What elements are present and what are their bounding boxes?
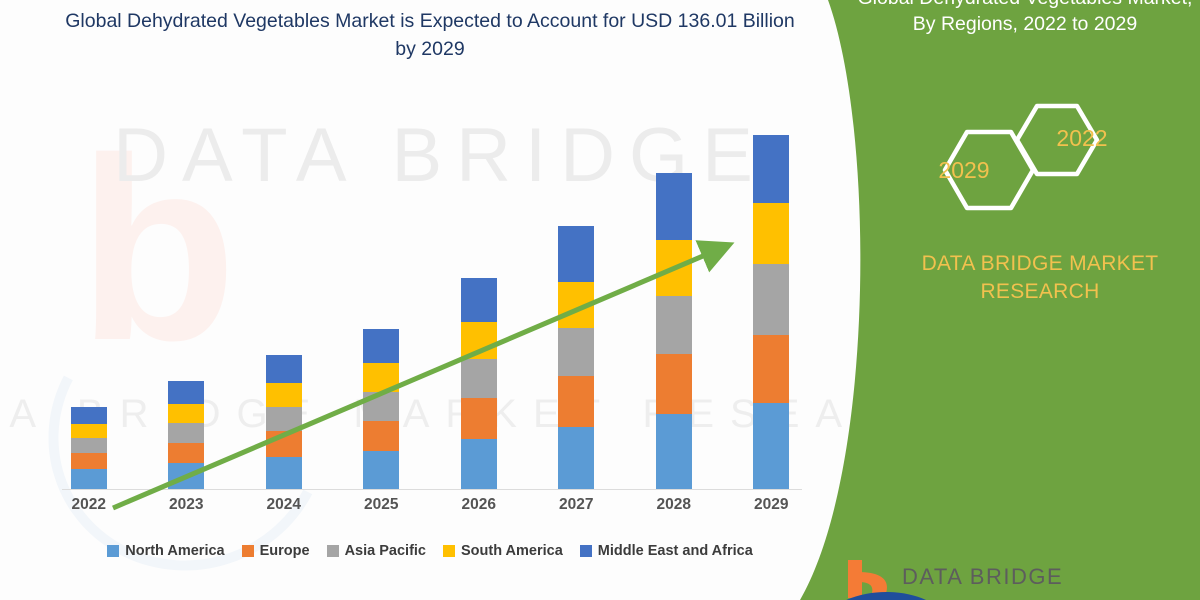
chart-legend: North AmericaEuropeAsia PacificSouth Ame…	[40, 538, 820, 564]
bar-segment	[656, 414, 692, 489]
bar-segment	[363, 421, 399, 451]
bar-segment	[266, 407, 302, 432]
bar-segment	[71, 407, 107, 424]
legend-item[interactable]: Middle East and Africa	[580, 543, 753, 559]
legend-item[interactable]: South America	[443, 543, 563, 559]
bar-segment	[168, 443, 204, 464]
bar-segment	[558, 282, 594, 328]
stacked-bar	[656, 173, 692, 489]
bar-segment	[656, 240, 692, 296]
bar-segment	[266, 457, 302, 489]
bar-segment	[558, 226, 594, 282]
bar-segment	[363, 451, 399, 489]
legend-item[interactable]: Asia Pacific	[327, 543, 426, 559]
stacked-bar	[461, 278, 497, 489]
bar-segment	[168, 404, 204, 423]
stacked-bar	[363, 329, 399, 489]
legend-label: Middle East and Africa	[598, 543, 753, 559]
legend-swatch	[242, 545, 254, 557]
x-axis-labels: 20222023202420252026202720282029	[40, 496, 820, 522]
bar-segment	[656, 354, 692, 415]
bar-segment	[363, 329, 399, 363]
bar-segment	[168, 423, 204, 443]
page-title: Global Dehydrated Vegetables Market is E…	[60, 8, 800, 63]
bar-segment	[266, 383, 302, 407]
legend-item[interactable]: North America	[107, 543, 224, 559]
bar-segment	[656, 173, 692, 240]
x-axis-label: 2027	[528, 496, 626, 522]
x-axis-label: 2024	[235, 496, 333, 522]
bar-segment	[168, 463, 204, 489]
bar-column	[40, 133, 138, 489]
bar-segment	[461, 278, 497, 322]
logo: DATA BRIDGE	[840, 558, 1180, 600]
bar-segment	[656, 296, 692, 354]
x-axis-label: 2028	[625, 496, 723, 522]
x-axis-label: 2025	[333, 496, 431, 522]
legend-swatch	[107, 545, 119, 557]
bar-segment	[461, 398, 497, 439]
x-axis-label: 2026	[430, 496, 528, 522]
bar-segment	[363, 392, 399, 421]
x-axis-line	[62, 489, 802, 490]
legend-label: Europe	[260, 543, 310, 559]
legend-swatch	[443, 545, 455, 557]
bar-segment	[558, 376, 594, 426]
bar-segment	[266, 431, 302, 457]
bar-column	[528, 133, 626, 489]
plot-area	[40, 110, 820, 490]
hexagon-back-label: 2029	[839, 157, 1089, 184]
bar-column	[625, 133, 723, 489]
legend-swatch	[580, 545, 592, 557]
stacked-bar	[168, 381, 204, 489]
legend-label: Asia Pacific	[345, 543, 426, 559]
bar-column	[235, 133, 333, 489]
hexagon-front-label: 2022	[957, 125, 1200, 152]
hexagon-group: 2029 2022	[905, 95, 1155, 245]
bar-segment	[71, 424, 107, 438]
x-axis-label: 2023	[138, 496, 236, 522]
infographic-canvas: b DATA BRIDGE DATA BRIDGE MARKET RESEARC…	[0, 0, 1200, 600]
bar-segment	[363, 363, 399, 391]
bar-segment	[168, 381, 204, 404]
legend-item[interactable]: Europe	[242, 543, 310, 559]
bar-group	[40, 133, 820, 489]
chart-pane: b DATA BRIDGE DATA BRIDGE MARKET RESEARC…	[0, 0, 880, 600]
bar-segment	[71, 453, 107, 469]
bar-segment	[461, 439, 497, 489]
stacked-bar	[266, 355, 302, 489]
logo-text: DATA BRIDGE	[902, 564, 1063, 590]
bar-segment	[71, 438, 107, 453]
x-axis-label: 2022	[40, 496, 138, 522]
legend-swatch	[327, 545, 339, 557]
bar-segment	[461, 322, 497, 359]
bar-column	[138, 133, 236, 489]
legend-label: North America	[125, 543, 224, 559]
bar-column	[333, 133, 431, 489]
panel-title: Global Dehydrated Vegetables Market, By …	[855, 0, 1195, 37]
bar-segment	[71, 469, 107, 489]
bar-segment	[558, 427, 594, 489]
legend-label: South America	[461, 543, 563, 559]
stacked-bar	[71, 407, 107, 489]
bar-segment	[266, 355, 302, 383]
brand-name: DATA BRIDGE MARKET RESEARCH	[880, 250, 1200, 307]
bar-segment	[461, 359, 497, 398]
stacked-bar	[558, 226, 594, 489]
bar-column	[430, 133, 528, 489]
bar-segment	[558, 328, 594, 376]
